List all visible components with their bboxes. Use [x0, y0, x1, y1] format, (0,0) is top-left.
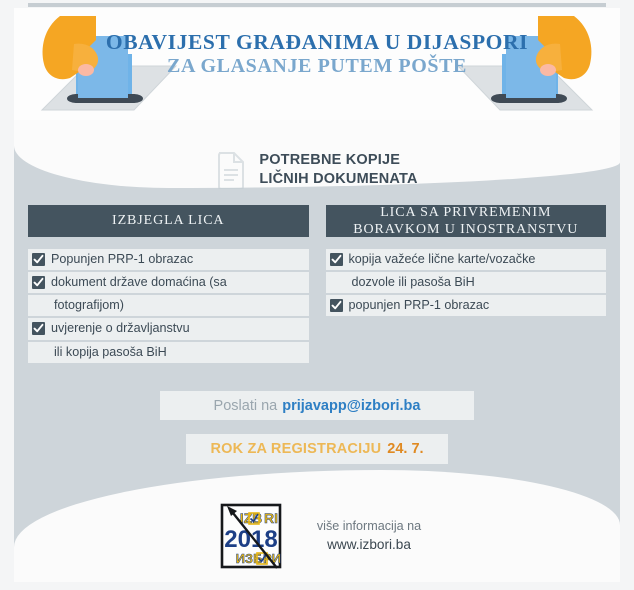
section-heading: POTREBNE KOPIJE LIČNIH DOKUMENATA — [14, 148, 620, 192]
list-item[interactable]: dokument države domaćina (sa — [28, 272, 309, 293]
registration-deadline-band: ROK ZA REGISTRACIJU 24. 7. — [186, 434, 448, 464]
right-margin — [620, 0, 634, 590]
top-frame-line — [28, 3, 606, 7]
checkbox-checked-icon[interactable] — [330, 299, 343, 312]
list-item[interactable]: popunjen PRP-1 obrazac — [326, 295, 607, 316]
column-header-lica-sa-privremenim-boravkom: LICA SA PRIVREMENIM BORAVKOM U INOSTRANS… — [326, 205, 607, 237]
izbori-2018-logo-icon: IZB RI 2018 ИЗБ РИ — [213, 502, 291, 570]
top-frame — [0, 0, 634, 8]
svg-text:2018: 2018 — [224, 526, 277, 553]
list-item[interactable]: Popunjen PRP-1 obrazac — [28, 249, 309, 270]
list-item-label: popunjen PRP-1 obrazac — [349, 297, 601, 314]
checkbox-checked-icon[interactable] — [32, 322, 45, 335]
section-heading-line2: LIČNIH DOKUMENATA — [259, 170, 417, 189]
column-header-izbjegla-lica: IZBJEGLA LICA — [28, 205, 309, 237]
requirements-columns: IZBJEGLA LICA Popunjen PRP-1 obrazac dok… — [14, 205, 620, 365]
deadline-label: ROK ZA REGISTRACIJU — [210, 441, 381, 457]
ballot-box-hand-left-icon — [30, 14, 190, 120]
list-item-label: dokument države domaćina (sa — [51, 274, 303, 291]
checklist-lica-sa-privremenim-boravkom: kopija važeće lične karte/vozačke dozvol… — [326, 249, 607, 316]
document-icon — [216, 151, 246, 189]
column-izbjegla-lica: IZBJEGLA LICA Popunjen PRP-1 obrazac dok… — [28, 205, 309, 365]
checkbox-checked-icon[interactable] — [32, 276, 45, 289]
list-item[interactable]: kopija važeće lične karte/vozačke — [326, 249, 607, 270]
bottom-frame — [0, 582, 634, 590]
column-lica-sa-privremenim-boravkom: LICA SA PRIVREMENIM BORAVKOM U INOSTRANS… — [326, 205, 607, 365]
list-item[interactable]: uvjerenje o državljanstvu — [28, 318, 309, 339]
footer-info: više informacija na www.izbori.ba — [317, 517, 421, 555]
footer-website-url[interactable]: www.izbori.ba — [317, 535, 421, 555]
list-item-label: uvjerenje o državljanstvu — [51, 320, 303, 337]
list-item-label: ili kopija pasoša BiH — [54, 344, 303, 361]
column-header-line2: BORAVKOM U INOSTRANSTVU — [353, 221, 578, 238]
checkbox-checked-icon[interactable] — [32, 253, 45, 266]
left-margin — [0, 0, 14, 590]
footer: IZB RI 2018 ИЗБ РИ više informacija na w… — [14, 498, 620, 574]
ballot-box-hand-right-icon — [444, 14, 604, 120]
email-instruction-band: Poslati na prijavapp@izbori.ba — [160, 391, 474, 420]
svg-text:RI: RI — [264, 510, 278, 526]
section-heading-text: POTREBNE KOPIJE LIČNIH DOKUMENATA — [259, 151, 417, 188]
list-item-continuation: dozvole ili pasoša BiH — [326, 272, 607, 293]
poster: OBAVIJEST GRAĐANIMA U DIJASPORI ZA GLASA… — [0, 0, 634, 590]
list-item-label: fotografijom) — [54, 297, 303, 314]
list-item-continuation: ili kopija pasoša BiH — [28, 342, 309, 363]
checkbox-checked-icon[interactable] — [330, 253, 343, 266]
section-heading-line1: POTREBNE KOPIJE — [259, 151, 417, 170]
hero-banner: OBAVIJEST GRAĐANIMA U DIJASPORI ZA GLASA… — [14, 8, 620, 120]
list-item-label: dozvole ili pasoša BiH — [352, 274, 601, 291]
checklist-izbjegla-lica: Popunjen PRP-1 obrazac dokument države d… — [28, 249, 309, 363]
column-header-line1: IZBJEGLA LICA — [112, 212, 224, 229]
column-header-line1: LICA SA PRIVREMENIM — [353, 204, 578, 221]
footer-info-line1: više informacija na — [317, 517, 421, 535]
list-item-label: Popunjen PRP-1 obrazac — [51, 251, 303, 268]
email-address-link[interactable]: prijavapp@izbori.ba — [282, 398, 420, 414]
list-item-label: kopija važeće lične karte/vozačke — [349, 251, 601, 268]
email-prefix-label: Poslati na — [214, 398, 278, 414]
list-item-continuation: fotografijom) — [28, 295, 309, 316]
column-header-text: LICA SA PRIVREMENIM BORAVKOM U INOSTRANS… — [353, 204, 578, 238]
deadline-date: 24. 7. — [387, 441, 423, 457]
